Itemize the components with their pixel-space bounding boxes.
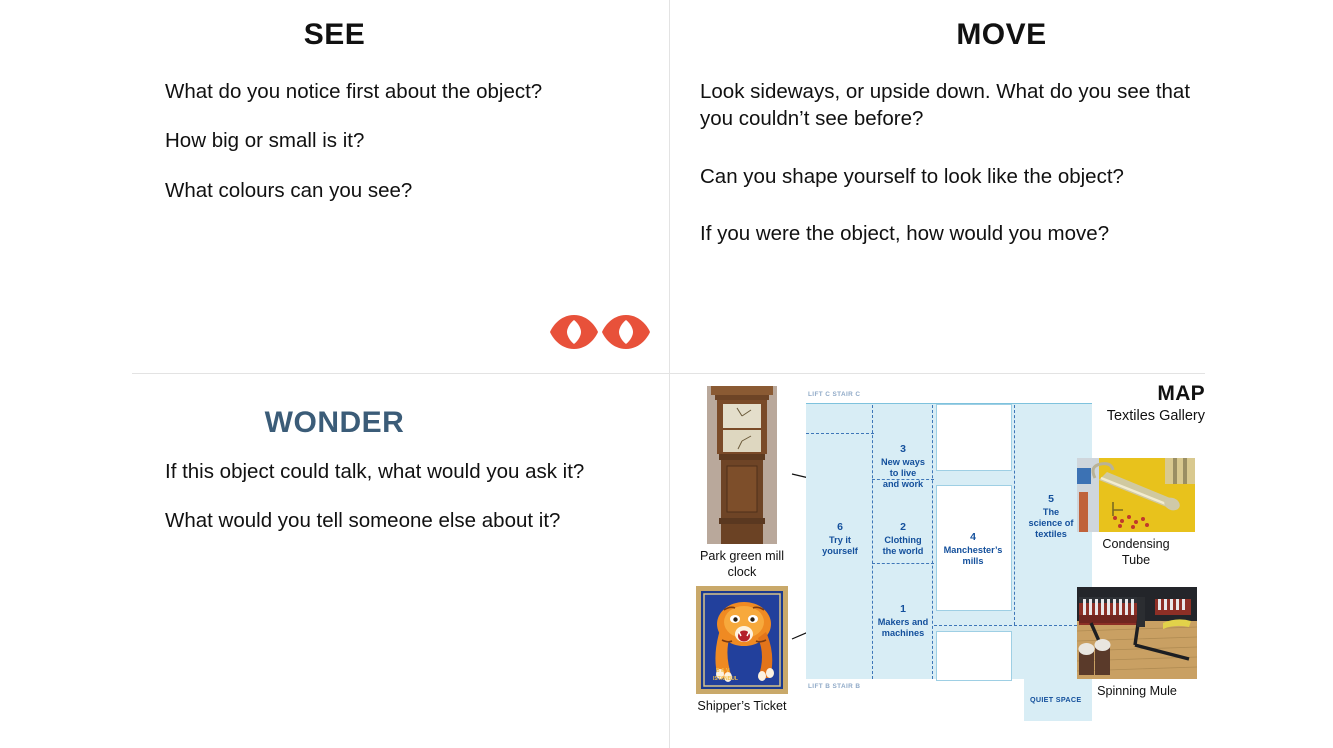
floorplan-lift-b-label: LIFT B STAIR B	[808, 683, 860, 690]
activity-sheet: SEE What do you notice first about the o…	[0, 0, 1333, 748]
floorplan-zone-3: 3 New ways to live and work	[872, 443, 934, 490]
move-prompt-list: Look sideways, or upside down. What do y…	[700, 78, 1200, 277]
tiger-shippers-ticket-label: B & V ISTANBUL	[696, 586, 788, 694]
spinning-mule-photo	[1077, 587, 1197, 679]
floorplan-quiet-space-label: QUIET SPACE	[1030, 695, 1082, 704]
floorplan-zone-2: 2 Clothing the world	[872, 521, 934, 557]
wonder-prompt: If this object could talk, what would yo…	[165, 458, 665, 485]
floorplan-room-lower	[936, 631, 1012, 681]
move-prompt: Can you shape yourself to look like the …	[700, 163, 1200, 190]
see-prompt: What colours can you see?	[165, 177, 635, 204]
object-thumbnail-mule[interactable]: Spinning Mule	[1076, 587, 1198, 700]
floorplan-room-upper	[936, 404, 1012, 471]
floorplan-partition	[934, 625, 1092, 626]
longcase-clock-photo	[707, 386, 777, 544]
ticket-mark-line2: ISTANBUL	[713, 676, 738, 682]
object-thumbnail-clock[interactable]: Park green mill clock	[692, 386, 792, 580]
eyes-icon	[550, 311, 650, 358]
wonder-heading: WONDER	[0, 374, 669, 440]
see-prompt: What do you notice first about the objec…	[165, 78, 635, 105]
move-prompt: Look sideways, or upside down. What do y…	[700, 78, 1200, 133]
quadrant-map: MAP Textiles Gallery LIFT C STAIR C LIFT…	[670, 374, 1333, 748]
quadrant-see: SEE What do you notice first about the o…	[0, 0, 669, 373]
map-heading: MAP	[1107, 382, 1205, 405]
floorplan-zone-4: 4 Manchester’s mills	[934, 531, 1012, 567]
floorplan-partition	[806, 433, 874, 434]
floorplan-zone-6: 6 Try it yourself	[808, 521, 872, 557]
move-prompt: If you were the object, how would you mo…	[700, 220, 1200, 247]
see-prompt-list: What do you notice first about the objec…	[165, 78, 635, 226]
floorplan-partition	[872, 563, 934, 564]
object-caption: Condensing Tube	[1076, 537, 1196, 568]
ticket-mark-line1: B & V	[716, 668, 730, 674]
object-caption: Spinning Mule	[1076, 684, 1198, 700]
see-heading: SEE	[0, 0, 669, 52]
move-heading: MOVE	[670, 0, 1333, 52]
see-prompt: How big or small is it?	[165, 127, 635, 154]
wonder-prompt: What would you tell someone else about i…	[165, 507, 665, 534]
gallery-floorplan: LIFT C STAIR C LIFT B STAIR B 3	[802, 403, 1092, 696]
quadrant-move: MOVE Look sideways, or upside down. What…	[670, 0, 1333, 373]
object-caption: Shipper’s Ticket	[692, 699, 792, 715]
quadrant-wonder: WONDER If this object could talk, what w…	[0, 374, 669, 748]
wonder-prompt-list: If this object could talk, what would yo…	[165, 458, 665, 557]
floorplan-zone-1: 1 Makers and machines	[870, 603, 936, 639]
map-header: MAP Textiles Gallery	[1107, 382, 1205, 424]
map-subheading: Textiles Gallery	[1107, 408, 1205, 424]
object-caption: Park green mill clock	[692, 549, 792, 580]
object-thumbnail-tube[interactable]: Condensing Tube	[1076, 458, 1196, 568]
object-thumbnail-ticket[interactable]: B & V ISTANBUL Shipper’s Ticket	[692, 586, 792, 715]
floorplan-lift-c-label: LIFT C STAIR C	[808, 391, 860, 398]
condensing-tube-photo	[1077, 458, 1195, 532]
